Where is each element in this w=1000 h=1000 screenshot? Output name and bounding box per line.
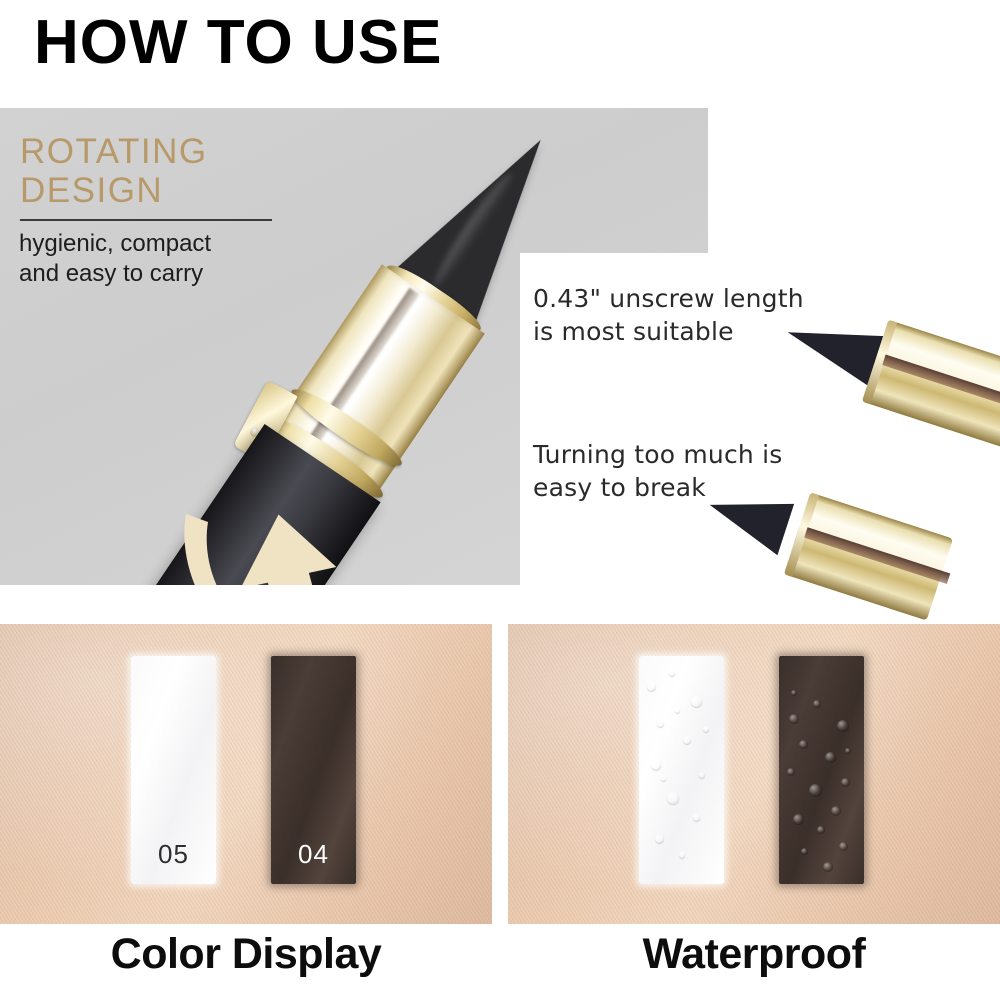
pencil-metallic-barrel: [272, 264, 484, 496]
tip1-line-2: is most suitable: [533, 316, 804, 349]
skin-texture-overlay: [508, 624, 1000, 924]
page-title: HOW TO USE: [34, 12, 442, 74]
waterproof-caption: Waterproof: [508, 930, 1000, 979]
tip1-line-1: 0.43" unscrew length: [533, 283, 804, 316]
rotating-design-subtext: hygienic, compact and easy to carry: [19, 229, 211, 290]
heading-divider-rule: [20, 219, 272, 221]
swatch-05-white: 05: [131, 656, 216, 884]
over-turning-warning-tip: Turning too much is easy to break: [533, 439, 782, 504]
heading-line-1: ROTATING: [20, 132, 208, 171]
pencil-gold-clip: [233, 380, 298, 461]
skin-texture-overlay: [0, 624, 492, 924]
pencil-black-body: [115, 424, 381, 585]
tip2-line-2: easy to break: [533, 472, 782, 505]
color-display-caption: Color Display: [0, 930, 492, 979]
tip2-line-1: Turning too much is: [533, 439, 782, 472]
swatch-04-dark: 04: [271, 656, 356, 884]
heading-line-2: DESIGN: [20, 171, 208, 210]
waterproof-swatch-panel: [508, 624, 1000, 924]
subtext-line-2: and easy to carry: [19, 259, 211, 289]
swatch-label-05: 05: [131, 839, 216, 870]
pencil-tip-highlight: [428, 168, 517, 290]
rotating-design-heading: ROTATING DESIGN: [20, 132, 208, 210]
color-display-swatch-panel: 05 04: [0, 624, 492, 924]
pencil-barrel-reflection: [306, 288, 420, 449]
water-droplets-on-white: [639, 656, 724, 884]
swatch-white-wet: [639, 656, 724, 884]
water-droplets-on-dark: [779, 656, 864, 884]
usage-tips-panel: 0.43" unscrew length is most suitable Tu…: [520, 253, 1000, 586]
unscrew-length-tip: 0.43" unscrew length is most suitable: [533, 283, 804, 348]
pencil-gold-ring-top: [382, 259, 486, 338]
swatch-dark-wet: [779, 656, 864, 884]
pencil-clip-rivet: [248, 426, 260, 438]
subtext-line-1: hygienic, compact: [19, 229, 211, 259]
pencil-gold-ring-lower: [263, 410, 389, 506]
pencil-gold-ring-mid: [286, 381, 408, 473]
rotate-arrow-icon: [168, 418, 468, 585]
swatch-label-04: 04: [271, 839, 356, 870]
